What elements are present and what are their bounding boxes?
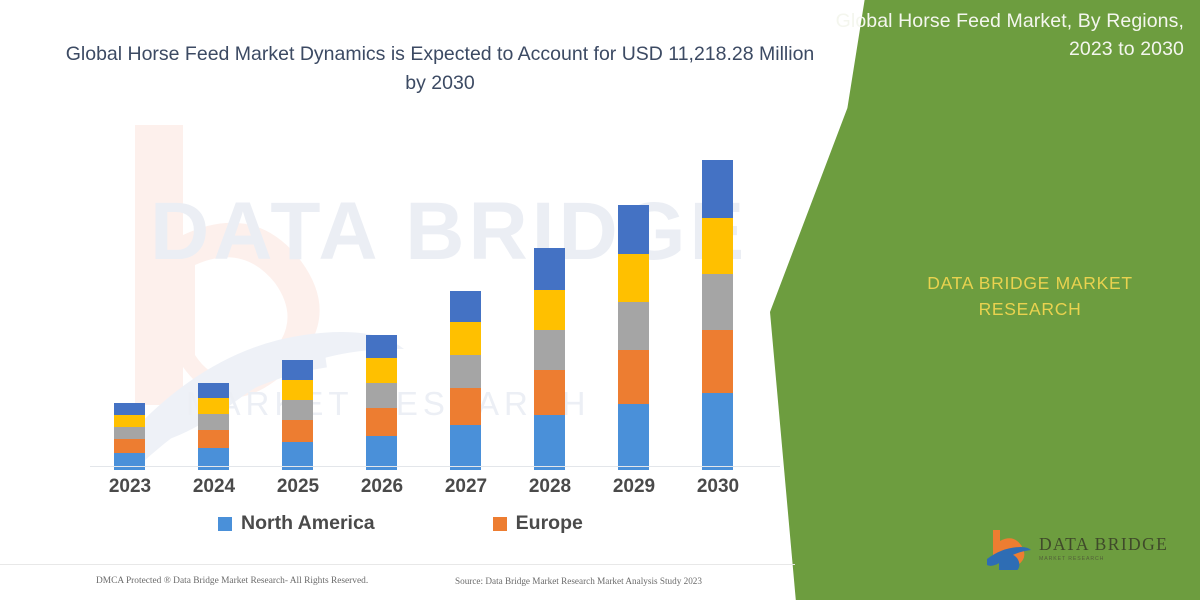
x-label-2025: 2025 (263, 476, 333, 498)
x-label-2023: 2023 (95, 476, 165, 498)
bar-segment-europe (618, 350, 649, 404)
data-bridge-logo: DATA BRIDGE MARKET RESEARCH (985, 528, 1168, 570)
x-label-2024: 2024 (179, 476, 249, 498)
bar-segment-middle-east-and-africa (198, 383, 229, 398)
bar-segment-asia-pacific (534, 330, 565, 370)
bar-segment-south-america (198, 398, 229, 414)
bar-segment-north-america (114, 453, 145, 470)
bar-chart-plot (90, 130, 790, 470)
x-axis-labels: 20232024202520262027202820292030 (90, 476, 790, 504)
bar-segment-asia-pacific (366, 383, 397, 408)
bar-segment-middle-east-and-africa (282, 360, 313, 380)
footer-copyright: DMCA Protected ® Data Bridge Market Rese… (96, 576, 368, 586)
bar-segment-south-america (618, 254, 649, 302)
chart-title: Global Horse Feed Market Dynamics is Exp… (60, 40, 820, 99)
bar-segment-asia-pacific (450, 355, 481, 388)
bar-segment-middle-east-and-africa (534, 248, 565, 290)
bar-segment-north-america (366, 436, 397, 470)
bar-segment-europe (534, 370, 565, 415)
bar-2024 (198, 383, 229, 470)
legend-item-europe[interactable]: Europe (493, 512, 583, 535)
bar-segment-south-america (366, 358, 397, 383)
bar-segment-middle-east-and-africa (366, 335, 397, 358)
bar-segment-asia-pacific (618, 302, 649, 350)
brand-name: DATA BRIDGE MARKET RESEARCH (880, 270, 1180, 323)
bar-2026 (366, 335, 397, 470)
bar-segment-europe (282, 420, 313, 442)
logo-mark-icon (985, 528, 1031, 570)
bar-2030 (702, 160, 733, 470)
bar-segment-north-america (702, 393, 733, 470)
legend-item-north-america[interactable]: North America (218, 512, 375, 535)
bar-2028 (534, 248, 565, 470)
bar-segment-middle-east-and-africa (618, 205, 649, 254)
bar-segment-europe (198, 430, 229, 448)
bar-segment-north-america (618, 404, 649, 470)
x-axis-line (90, 466, 780, 467)
bar-segment-europe (702, 330, 733, 393)
bar-segment-middle-east-and-africa (114, 403, 145, 415)
bar-2029 (618, 205, 649, 470)
legend-swatch-icon (493, 517, 507, 531)
legend-swatch-icon (218, 517, 232, 531)
logo-wordmark: DATA BRIDGE MARKET RESEARCH (1039, 536, 1168, 562)
legend-label: North America (241, 512, 375, 535)
bar-segment-middle-east-and-africa (702, 160, 733, 218)
bar-segment-south-america (534, 290, 565, 330)
bar-segment-europe (114, 439, 145, 453)
bar-2027 (450, 291, 481, 470)
logo-secondary-text: MARKET RESEARCH (1039, 557, 1168, 562)
bar-segment-asia-pacific (114, 427, 145, 439)
bar-segment-asia-pacific (702, 274, 733, 330)
bar-segment-asia-pacific (282, 400, 313, 420)
bar-segment-europe (450, 388, 481, 425)
bar-segment-asia-pacific (198, 414, 229, 430)
x-label-2028: 2028 (515, 476, 585, 498)
footer-source: Source: Data Bridge Market Research Mark… (455, 576, 702, 586)
x-label-2030: 2030 (683, 476, 753, 498)
bar-segment-europe (366, 408, 397, 436)
bar-segment-north-america (450, 425, 481, 470)
footer-bar: DMCA Protected ® Data Bridge Market Rese… (0, 564, 795, 600)
x-label-2029: 2029 (599, 476, 669, 498)
infographic-root: DATA BRIDGE MARKET RESEARCH Global Horse… (0, 0, 1200, 600)
legend-label: Europe (516, 512, 583, 535)
x-label-2026: 2026 (347, 476, 417, 498)
bar-segment-north-america (534, 415, 565, 470)
x-label-2027: 2027 (431, 476, 501, 498)
bar-segment-south-america (114, 415, 145, 427)
bar-segment-middle-east-and-africa (450, 291, 481, 322)
bar-2023 (114, 403, 145, 470)
panel-title: Global Horse Feed Market, By Regions, 20… (824, 8, 1184, 63)
logo-primary-text: DATA BRIDGE (1039, 536, 1168, 554)
chart-legend: North AmericaEurope (218, 512, 583, 535)
bar-segment-south-america (450, 322, 481, 355)
bar-2025 (282, 360, 313, 470)
bar-segment-south-america (702, 218, 733, 274)
bar-segment-south-america (282, 380, 313, 400)
